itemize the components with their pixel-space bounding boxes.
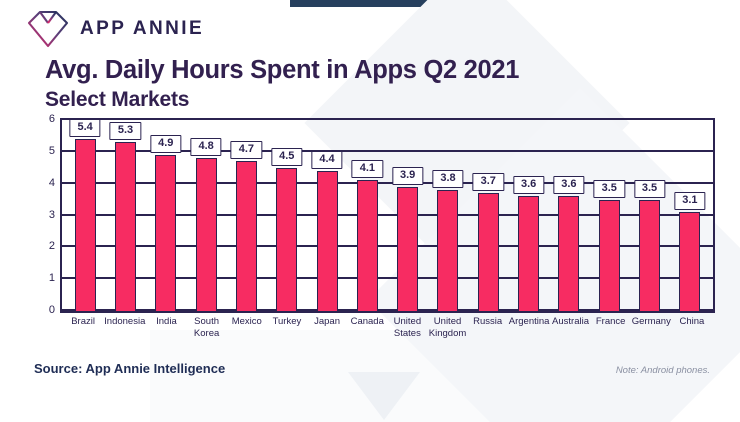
x-axis-label: Australia	[550, 316, 590, 339]
x-axis-label: Turkey	[267, 316, 307, 339]
page-title: Avg. Daily Hours Spent in Apps Q2 2021	[45, 56, 519, 85]
bar[interactable]: 3.1	[679, 212, 700, 311]
x-axis-label: India	[146, 316, 186, 339]
y-axis-tick: 0	[49, 304, 55, 316]
bar-value-label: 3.5	[634, 180, 665, 198]
bar-value-label: 5.4	[70, 119, 101, 137]
bar[interactable]: 4.7	[236, 161, 257, 311]
bar-value-label: 4.5	[271, 148, 302, 166]
bar[interactable]: 3.6	[518, 196, 539, 311]
x-axis-label: United States	[387, 316, 427, 339]
x-axis-label: Indonesia	[103, 316, 146, 339]
bar[interactable]: 3.9	[397, 187, 418, 311]
bar-slot: 3.1	[670, 120, 710, 311]
diamond-gem-icon	[26, 9, 70, 49]
bar[interactable]: 5.4	[75, 139, 96, 311]
brand-header: APP ANNIE	[26, 9, 204, 49]
bar-value-label: 3.7	[473, 173, 504, 191]
x-axis-label: Germany	[631, 316, 672, 339]
x-axis-label: Canada	[347, 316, 387, 339]
bar[interactable]: 4.4	[317, 171, 338, 311]
bar-value-label: 4.4	[311, 151, 342, 169]
bar-slot: 3.6	[549, 120, 589, 311]
bar-slot: 3.9	[388, 120, 428, 311]
bar[interactable]: 3.5	[599, 200, 620, 311]
y-axis-tick: 1	[49, 272, 55, 284]
bar[interactable]: 4.5	[276, 168, 297, 311]
bar-value-label: 3.9	[392, 167, 423, 185]
window-chrome-strip	[290, 0, 466, 7]
bar-slot: 5.4	[65, 120, 105, 311]
bar-value-label: 4.8	[190, 138, 221, 156]
bar-value-label: 5.3	[110, 122, 141, 140]
bar-chart: 0123456 5.45.34.94.84.74.54.44.13.93.83.…	[36, 118, 696, 350]
bar-slot: 4.8	[186, 120, 226, 311]
bar-slot: 3.6	[508, 120, 548, 311]
x-axis-label: United Kingdom	[427, 316, 467, 339]
x-axis-labels: BrazilIndonesiaIndiaSouth KoreaMexicoTur…	[60, 316, 715, 339]
bar[interactable]: 4.1	[357, 180, 378, 311]
bar-slot: 3.7	[468, 120, 508, 311]
bar-value-label: 3.1	[674, 192, 705, 210]
y-axis-tick: 3	[49, 209, 55, 221]
page-subtitle: Select Markets	[45, 88, 189, 112]
bar-slot: 4.4	[307, 120, 347, 311]
bar-value-label: 4.9	[150, 135, 181, 153]
bar-value-label: 4.1	[352, 160, 383, 178]
bar-value-label: 3.5	[594, 180, 625, 198]
plot-area: 0123456 5.45.34.94.84.74.54.44.13.93.83.…	[60, 118, 715, 313]
bar-value-label: 3.6	[513, 176, 544, 194]
bar[interactable]: 3.6	[558, 196, 579, 311]
bar-slot: 4.5	[267, 120, 307, 311]
bar-slot: 5.3	[105, 120, 145, 311]
x-axis-label: South Korea	[187, 316, 227, 339]
bar-value-label: 3.8	[432, 170, 463, 188]
bar[interactable]: 3.5	[639, 200, 660, 311]
note-text: Note: Android phones.	[616, 365, 710, 376]
bar[interactable]: 3.8	[437, 190, 458, 311]
bar-slot: 4.9	[146, 120, 186, 311]
bar-series: 5.45.34.94.84.74.54.44.13.93.83.73.63.63…	[62, 120, 713, 311]
brand-name: APP ANNIE	[80, 18, 204, 40]
bar-slot: 3.5	[629, 120, 669, 311]
bar-value-label: 4.7	[231, 141, 262, 159]
x-axis-label: France	[591, 316, 631, 339]
x-axis-label: Argentina	[508, 316, 551, 339]
y-axis-tick: 4	[49, 177, 55, 189]
y-axis-tick: 2	[49, 240, 55, 252]
x-axis-label: Brazil	[63, 316, 103, 339]
watermark-triangle	[348, 372, 420, 420]
y-axis-tick: 6	[49, 113, 55, 125]
bar-value-label: 3.6	[553, 176, 584, 194]
bar[interactable]: 5.3	[115, 142, 136, 311]
slide-canvas: APP ANNIE Avg. Daily Hours Spent in Apps…	[0, 0, 740, 422]
x-axis-label: Mexico	[227, 316, 267, 339]
bar-slot: 3.8	[428, 120, 468, 311]
y-axis-tick: 5	[49, 145, 55, 157]
x-axis-label: China	[672, 316, 712, 339]
bar-slot: 3.5	[589, 120, 629, 311]
bar[interactable]: 4.8	[196, 158, 217, 311]
x-axis-label: Japan	[307, 316, 347, 339]
source-text: Source: App Annie Intelligence	[34, 361, 225, 376]
bar-slot: 4.1	[347, 120, 387, 311]
bar[interactable]: 3.7	[478, 193, 499, 311]
x-axis-label: Russia	[468, 316, 508, 339]
bar[interactable]: 4.9	[155, 155, 176, 311]
bar-slot: 4.7	[226, 120, 266, 311]
